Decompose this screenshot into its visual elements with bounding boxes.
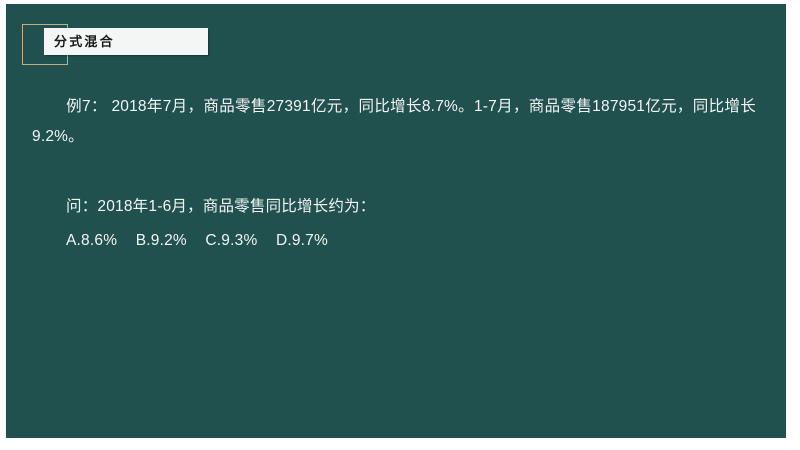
option-b[interactable]: B.9.2% — [136, 232, 187, 249]
question-group: 问：2018年1-6月，商品零售同比增长约为： A.8.6% B.9.2% C.… — [32, 194, 756, 254]
slide-content: 例7： 2018年7月，商品零售27391亿元，同比增长8.7%。1-7月，商品… — [32, 92, 756, 254]
option-d[interactable]: D.9.7% — [276, 232, 328, 249]
title-plate: 分式混合 — [44, 28, 208, 55]
slide-root: 分式混合 例7： 2018年7月，商品零售27391亿元，同比增长8.7%。1-… — [0, 0, 800, 450]
option-c[interactable]: C.9.3% — [205, 232, 257, 249]
slide-canvas: 分式混合 例7： 2018年7月，商品零售27391亿元，同比增长8.7%。1-… — [6, 4, 786, 438]
question-prompt: 问：2018年1-6月，商品零售同比增长约为： — [66, 194, 756, 220]
slide-title-block: 分式混合 — [22, 24, 232, 72]
problem-statement: 例7： 2018年7月，商品零售27391亿元，同比增长8.7%。1-7月，商品… — [32, 92, 756, 152]
option-a[interactable]: A.8.6% — [66, 232, 117, 249]
problem-statement-text: 例7： 2018年7月，商品零售27391亿元，同比增长8.7%。1-7月，商品… — [32, 98, 756, 145]
page-title: 分式混合 — [44, 35, 115, 48]
answer-options: A.8.6% B.9.2% C.9.3% D.9.7% — [66, 228, 756, 254]
